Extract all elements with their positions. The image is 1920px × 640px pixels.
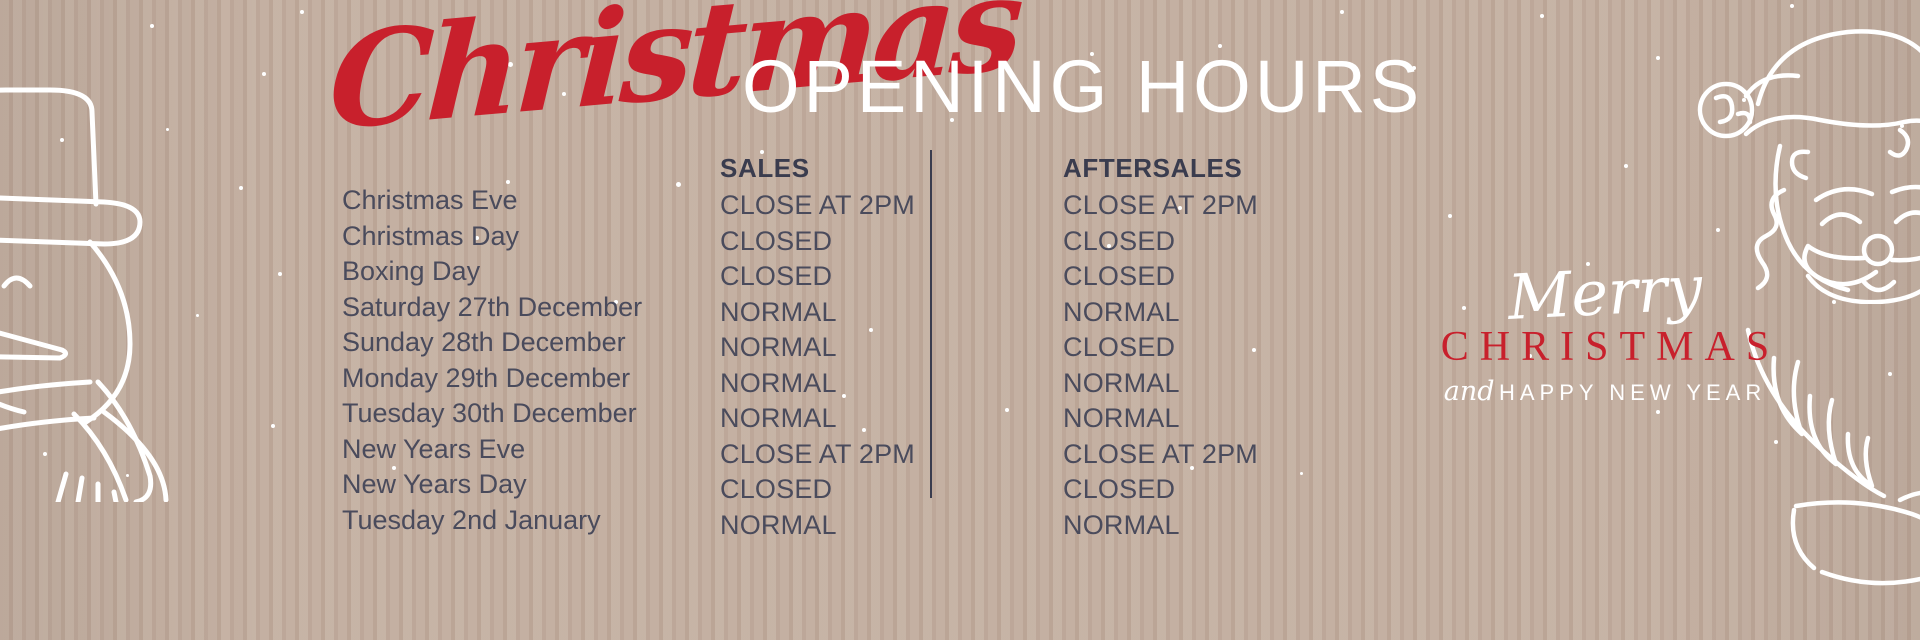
table-row: New Years Day: [342, 467, 720, 503]
table-cell-sales: NORMAL: [720, 295, 995, 331]
column-sales: SALES CLOSE AT 2PM CLOSED CLOSED NORMAL …: [720, 150, 995, 543]
greeting-tagline: and HAPPY NEW YEAR: [1425, 376, 1785, 407]
column-aftersales: AFTERSALES CLOSE AT 2PM CLOSED CLOSED NO…: [995, 150, 1295, 543]
table-cell-aftersales: CLOSED: [1063, 330, 1295, 366]
table-cell-aftersales: NORMAL: [1063, 508, 1295, 544]
table-row: Christmas Eve: [342, 183, 720, 219]
column-divider: [930, 150, 932, 498]
table-row: Tuesday 2nd January: [342, 503, 720, 539]
table-cell-aftersales: CLOSE AT 2PM: [1063, 437, 1295, 473]
table-cell-sales: CLOSE AT 2PM: [720, 437, 995, 473]
table-cell-sales: CLOSE AT 2PM: [720, 188, 995, 224]
table-row: Boxing Day: [342, 254, 720, 290]
column-header-aftersales: AFTERSALES: [1063, 150, 1295, 186]
table-row: Monday 29th December: [342, 361, 720, 397]
greeting-block: Merry CHRISTMAS and HAPPY NEW YEAR: [1425, 258, 1785, 407]
table-row: Saturday 27th December: [342, 290, 720, 326]
column-days: Christmas Eve Christmas Day Boxing Day S…: [342, 150, 720, 538]
table-cell-aftersales: NORMAL: [1063, 295, 1295, 331]
page-title: Christmas OPENING HOURS: [330, 8, 1340, 158]
table-cell-aftersales: CLOSED: [1063, 259, 1295, 295]
table-cell-sales: CLOSED: [720, 259, 995, 295]
opening-hours-table: Christmas Eve Christmas Day Boxing Day S…: [342, 150, 1295, 543]
headline-block-word: OPENING HOURS: [742, 46, 1423, 128]
table-cell-sales: CLOSED: [720, 224, 995, 260]
table-cell-aftersales: NORMAL: [1063, 401, 1295, 437]
greeting-tagline-caps: HAPPY NEW YEAR: [1499, 380, 1766, 405]
table-cell-sales: NORMAL: [720, 401, 995, 437]
table-cell-sales: NORMAL: [720, 366, 995, 402]
table-row: Christmas Day: [342, 219, 720, 255]
table-cell-aftersales: CLOSED: [1063, 224, 1295, 260]
christmas-opening-hours-banner: Christmas OPENING HOURS Christmas Eve Ch…: [0, 0, 1920, 640]
table-cell-aftersales: NORMAL: [1063, 366, 1295, 402]
table-cell-aftersales: CLOSE AT 2PM: [1063, 188, 1295, 224]
greeting-tagline-script: and: [1444, 376, 1495, 407]
column-header-sales: SALES: [720, 150, 995, 186]
table-row: Tuesday 30th December: [342, 396, 720, 432]
table-cell-sales: NORMAL: [720, 508, 995, 544]
table-cell-aftersales: CLOSED: [1063, 472, 1295, 508]
table-row: New Years Eve: [342, 432, 720, 468]
table-row: Sunday 28th December: [342, 325, 720, 361]
table-cell-sales: CLOSED: [720, 472, 995, 508]
table-cell-sales: NORMAL: [720, 330, 995, 366]
